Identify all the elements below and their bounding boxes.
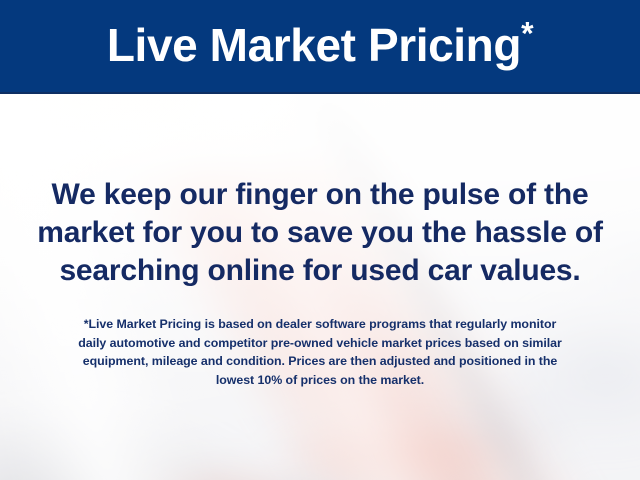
headline-line-2: market for you to save you the hassle of <box>20 214 620 252</box>
page-title: Live Market Pricing* <box>107 22 533 70</box>
content-area: We keep our finger on the pulse of the m… <box>0 94 640 480</box>
disclaimer-line-2: daily automotive and competitor pre-owne… <box>24 334 616 353</box>
disclaimer-block: *Live Market Pricing is based on dealer … <box>24 315 616 389</box>
header-underline-divider <box>0 92 640 94</box>
header-banner: Live Market Pricing* <box>0 0 640 92</box>
headline-block: We keep our finger on the pulse of the m… <box>20 176 620 290</box>
headline-line-3: searching online for used car values. <box>20 252 620 290</box>
page-title-asterisk: * <box>521 16 533 52</box>
page-title-text: Live Market Pricing <box>107 19 521 71</box>
disclaimer-line-1: *Live Market Pricing is based on dealer … <box>24 315 616 334</box>
disclaimer-line-4: lowest 10% of prices on the market. <box>24 371 616 390</box>
disclaimer-line-3: equipment, mileage and condition. Prices… <box>24 352 616 371</box>
live-market-pricing-banner: Live Market Pricing* We keep our finger … <box>0 0 640 480</box>
headline-line-1: We keep our finger on the pulse of the <box>20 176 620 214</box>
